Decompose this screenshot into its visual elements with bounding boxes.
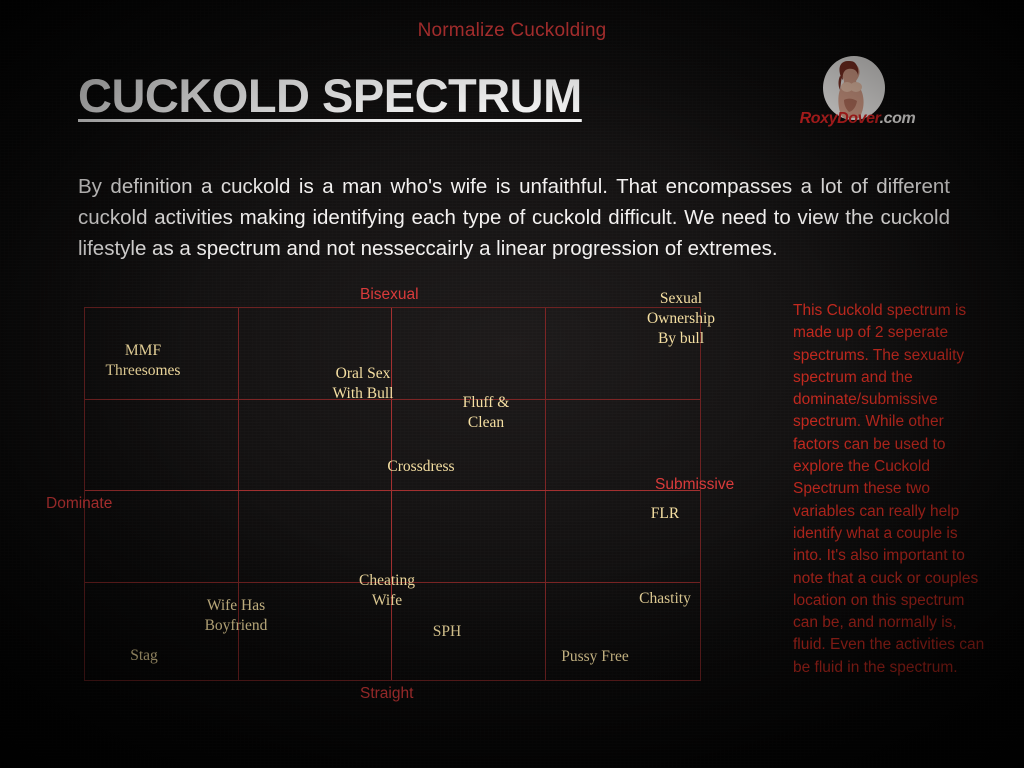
logo-brand-text: RoxyDover bbox=[800, 110, 880, 127]
spectrum-item-flr: FLR bbox=[651, 504, 679, 524]
spectrum-item-sph: SPH bbox=[433, 622, 461, 642]
roxydover-logo[interactable]: RoxyDover.com bbox=[795, 56, 920, 134]
axis-label-straight: Straight bbox=[360, 685, 413, 703]
grid-hline-center-dominance-axis bbox=[85, 490, 700, 491]
spectrum-item-fluff-and-clean: Fluff & Clean bbox=[463, 393, 510, 433]
tagline: Normalize Cuckolding bbox=[0, 20, 1024, 42]
logo-tld-text: .com bbox=[880, 110, 916, 127]
spectrum-item-chastity: Chastity bbox=[639, 589, 691, 609]
side-note: This Cuckold spectrum is made up of 2 se… bbox=[793, 300, 989, 679]
spectrum-item-oral-sex-with-bull: Oral Sex With Bull bbox=[333, 364, 394, 404]
grid-vline-3 bbox=[545, 308, 546, 680]
axis-label-bisexual: Bisexual bbox=[360, 286, 419, 304]
spectrum-item-sexual-ownership-by-bull: Sexual Ownership By bull bbox=[647, 289, 715, 349]
intro-paragraph: By definition a cuckold is a man who's w… bbox=[78, 171, 950, 264]
spectrum-item-stag: Stag bbox=[130, 646, 158, 666]
page-title: CUCKOLD SPECTRUM bbox=[78, 68, 582, 123]
spectrum-item-mmf-threesomes: MMF Threesomes bbox=[106, 341, 181, 381]
spectrum-item-cheating-wife: Cheating Wife bbox=[359, 571, 415, 611]
spectrum-item-crossdress: Crossdress bbox=[387, 457, 454, 477]
axis-label-dominate: Dominate bbox=[46, 495, 112, 513]
axis-label-submissive: Submissive bbox=[655, 476, 734, 494]
spectrum-item-wife-has-boyfriend: Wife Has Boyfriend bbox=[205, 596, 268, 636]
infographic-page: Normalize Cuckolding CUCKOLD SPECTRUM Ro… bbox=[0, 0, 1024, 768]
logo-wordmark: RoxyDover.com bbox=[795, 110, 920, 128]
spectrum-item-pussy-free: Pussy Free bbox=[561, 647, 629, 667]
